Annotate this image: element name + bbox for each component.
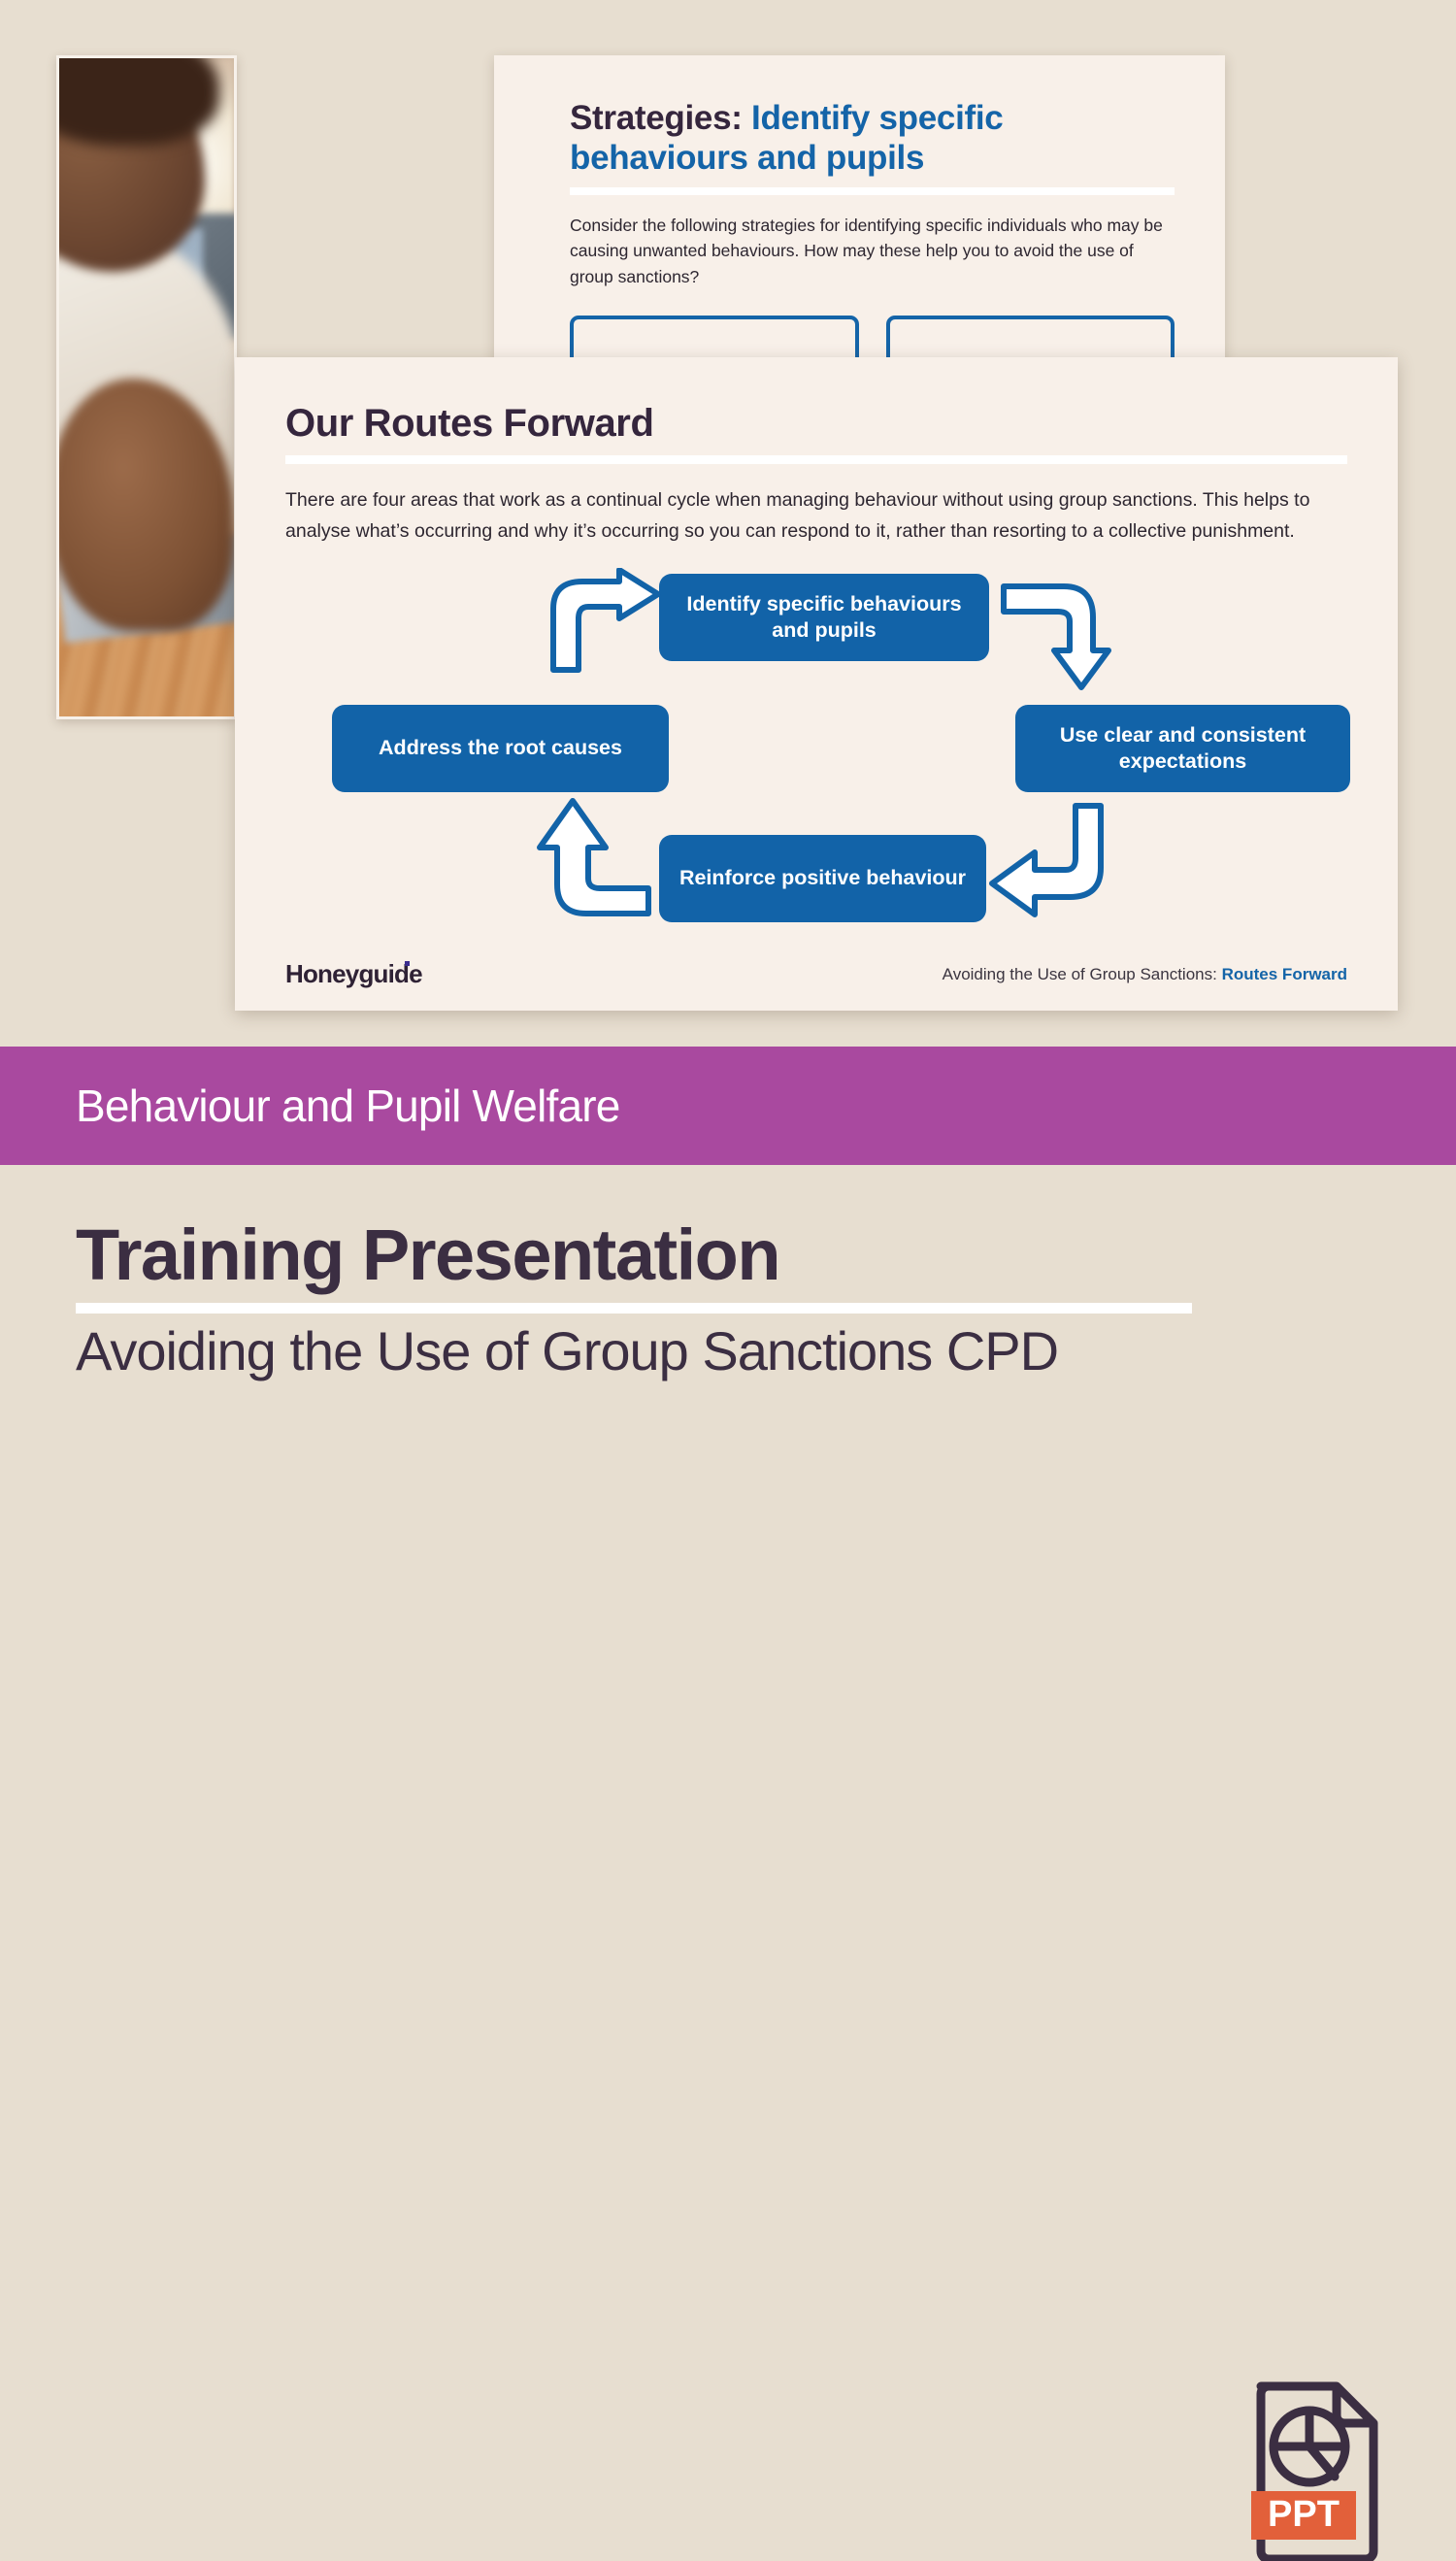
- breadcrumb: Avoiding the Use of Group Sanctions: Rou…: [943, 965, 1347, 984]
- resource-subheading: Avoiding the Use of Group Sanctions CPD: [76, 1323, 1192, 1380]
- bottom-rule: [76, 1303, 1192, 1314]
- ppt-file-icon: PPT: [1249, 2377, 1385, 2561]
- foreground-slide[interactable]: Our Routes Forward There are four areas …: [235, 357, 1398, 1011]
- arrow-down-left-icon: [986, 800, 1108, 921]
- slide-footer: Honeyguide Avoiding the Use of Group San…: [235, 959, 1398, 989]
- honeyguide-logo-text: Honeyguide: [285, 959, 422, 988]
- cycle-node-reinforce-label: Reinforce positive behaviour: [679, 865, 966, 892]
- cycle-node-identify[interactable]: Identify specific behaviours and pupils: [659, 574, 989, 661]
- background-slide-body: Strategies: Identify specific behaviours…: [494, 55, 1225, 403]
- background-slide-paragraph: Consider the following strategies for id…: [570, 213, 1175, 290]
- intro-paragraph: There are four areas that work as a cont…: [285, 485, 1347, 547]
- arrow-left-up-icon: [536, 793, 652, 919]
- cycle-diagram: Identify specific behaviours and pupils …: [285, 562, 1347, 921]
- photo-card: [56, 55, 237, 719]
- bottom-info-bar: Training Presentation Avoiding the Use o…: [0, 1165, 1456, 1456]
- cycle-node-root-causes-label: Address the root causes: [379, 735, 622, 762]
- bottom-text-block: Training Presentation Avoiding the Use o…: [76, 1219, 1192, 1380]
- arrow-up-right-icon: [546, 568, 662, 675]
- ppt-pie-slice-line-3: [1309, 2446, 1335, 2477]
- background-slide-title: Strategies: Identify specific behaviours…: [570, 98, 1175, 179]
- honeyguide-logo[interactable]: Honeyguide: [285, 959, 422, 989]
- background-slide-title-prefix: Strategies:: [570, 99, 743, 137]
- background-slide-title-rule: [570, 187, 1175, 195]
- title-rule: [285, 455, 1347, 464]
- arrow-right-down-icon: [1000, 579, 1116, 690]
- foreground-slide-body: Our Routes Forward There are four areas …: [235, 357, 1398, 1011]
- category-band-title: Behaviour and Pupil Welfare: [0, 1080, 620, 1132]
- cycle-node-identify-label: Identify specific behaviours and pupils: [675, 591, 974, 645]
- cycle-node-expectations-label: Use clear and consistent expectations: [1031, 722, 1335, 776]
- cycle-node-root-causes[interactable]: Address the root causes: [332, 705, 669, 792]
- cycle-node-expectations[interactable]: Use clear and consistent expectations: [1015, 705, 1350, 792]
- honeyguide-logo-dot: [405, 961, 410, 966]
- photo-image: [59, 58, 234, 716]
- resource-type-heading: Training Presentation: [76, 1219, 1192, 1291]
- page-title: Our Routes Forward: [285, 402, 1347, 446]
- ppt-badge-label: PPT: [1268, 2494, 1340, 2535]
- cycle-node-reinforce[interactable]: Reinforce positive behaviour: [659, 835, 986, 922]
- breadcrumb-prefix: Avoiding the Use of Group Sanctions:: [943, 965, 1217, 983]
- breadcrumb-current: Routes Forward: [1222, 965, 1347, 983]
- category-band: Behaviour and Pupil Welfare: [0, 1047, 1456, 1165]
- photo-hair-shape: [59, 58, 219, 146]
- slide-preview-area: Strategies: Identify specific behaviours…: [0, 0, 1456, 1047]
